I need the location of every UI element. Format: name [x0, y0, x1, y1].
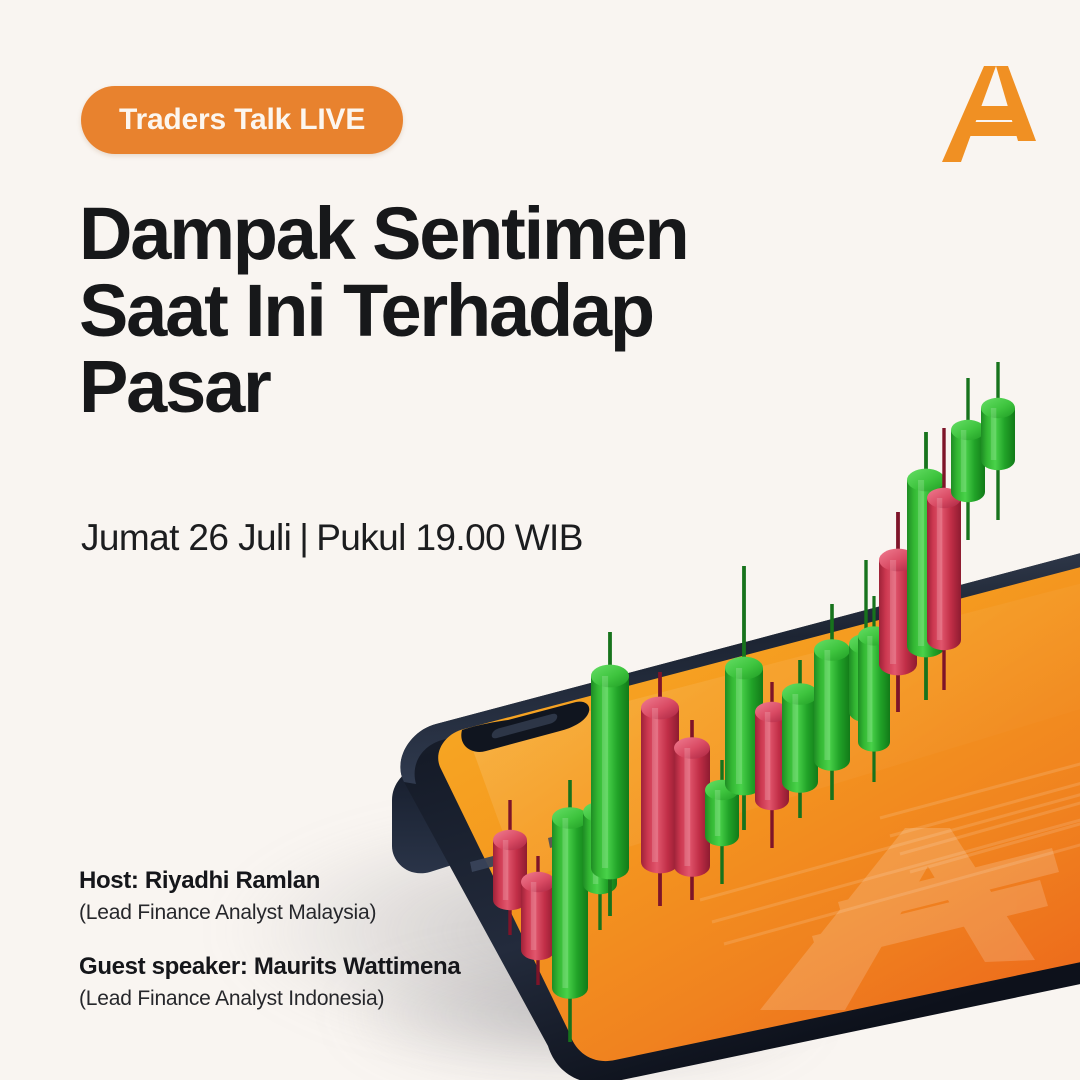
schedule-line: Jumat 26 Juli|Pukul 19.00 WIB	[81, 516, 583, 560]
candle-body	[591, 676, 629, 868]
candle-highlight	[824, 650, 830, 760]
phone-notch-icon	[461, 702, 589, 752]
candle-base	[705, 826, 739, 846]
candle-body	[849, 644, 883, 712]
candlestick-8	[705, 760, 739, 884]
brand-logo[interactable]	[936, 62, 1042, 166]
phone-side-button-icon	[470, 824, 602, 872]
schedule-date: Jumat 26 Juli	[81, 517, 291, 558]
candle-highlight	[991, 408, 996, 460]
candlestick-7	[674, 720, 710, 900]
candle-cap	[782, 683, 818, 705]
candlestick-16	[907, 432, 945, 700]
candle-highlight	[736, 668, 742, 784]
candle-cap	[755, 702, 789, 722]
candle-highlight	[867, 636, 872, 742]
candle-cap	[907, 469, 945, 492]
schedule-time: Pukul 19.00 WIB	[316, 517, 583, 558]
candlestick-19	[981, 362, 1015, 520]
headline-line-2: Saat Ini Terhadap	[79, 273, 839, 350]
candlestick-12	[814, 604, 850, 800]
candle-highlight	[937, 498, 942, 640]
candle-highlight	[602, 676, 608, 868]
screen-sheen	[470, 576, 1080, 880]
candle-highlight	[859, 644, 864, 712]
letter-a-monogram-icon	[936, 62, 1042, 166]
candle-body	[879, 560, 917, 664]
candle-base	[674, 855, 710, 877]
candle-cap	[705, 780, 739, 800]
candlestick-18	[951, 378, 985, 540]
page-title: Dampak Sentimen Saat Ini Terhadap Pasar	[79, 196, 839, 426]
live-badge[interactable]: Traders Talk LIVE	[81, 86, 403, 154]
candle-body	[927, 498, 961, 640]
candle-highlight	[890, 560, 896, 664]
candle-base	[814, 749, 850, 771]
screen-stripe-texture	[700, 760, 1080, 944]
host-name: Host: Riyadhi Ramlan	[79, 866, 599, 896]
poster-canvas: Traders Talk LIVE Dampak Sentimen Saat I…	[0, 0, 1080, 1080]
live-badge-label: Traders Talk LIVE	[119, 105, 365, 135]
candle-body	[705, 790, 739, 836]
candle-body	[782, 694, 818, 782]
candle-body	[674, 748, 710, 866]
candle-body	[907, 480, 945, 646]
candle-highlight	[792, 694, 798, 782]
headline-line-1: Dampak Sentimen	[79, 196, 839, 273]
candle-base	[951, 482, 985, 502]
candlestick-6	[641, 672, 679, 906]
candle-cap	[981, 398, 1015, 418]
letter-a-watermark-icon	[760, 828, 1059, 1010]
candle-base	[641, 851, 679, 874]
phone-rim-highlight	[400, 548, 1080, 784]
candle-highlight	[715, 790, 720, 836]
candle-cap	[814, 639, 850, 661]
candle-base	[725, 773, 763, 796]
candle-base	[849, 702, 883, 722]
candle-cap	[493, 830, 527, 850]
candlestick-14	[858, 596, 890, 782]
candle-highlight	[961, 430, 966, 492]
candlestick-15	[879, 512, 917, 712]
candle-body	[814, 650, 850, 760]
candle-cap	[927, 488, 961, 508]
credit-guest: Guest speaker: Maurits Wattimena (Lead F…	[79, 952, 599, 1012]
candle-body	[981, 408, 1015, 460]
candle-highlight	[765, 712, 770, 800]
candle-base	[782, 771, 818, 793]
candle-base	[907, 635, 945, 658]
schedule-separator: |	[291, 516, 316, 560]
candlestick-13	[849, 560, 883, 746]
candlestick-10	[755, 682, 789, 848]
candle-cap	[951, 420, 985, 440]
credit-host: Host: Riyadhi Ramlan (Lead Finance Analy…	[79, 866, 599, 926]
candle-base	[858, 732, 890, 751]
candle-body	[641, 708, 679, 862]
headline-line-3: Pasar	[79, 349, 839, 426]
guest-name: Guest speaker: Maurits Wattimena	[79, 952, 599, 982]
guest-role: (Lead Finance Analyst Indonesia)	[79, 985, 599, 1012]
candle-highlight	[918, 480, 924, 646]
candlestick-11	[782, 660, 818, 818]
candle-cap	[725, 657, 763, 680]
candle-cap	[583, 802, 617, 822]
candle-base	[927, 630, 961, 650]
candle-cap	[552, 807, 588, 829]
candle-highlight	[652, 708, 658, 862]
candle-cap	[674, 737, 710, 759]
candle-cap	[591, 665, 629, 688]
candlestick-17	[927, 428, 961, 690]
candle-base	[755, 790, 789, 810]
candle-body	[858, 636, 890, 742]
speaker-credits: Host: Riyadhi Ramlan (Lead Finance Analy…	[79, 866, 599, 1039]
candle-base	[879, 653, 917, 676]
candle-highlight	[684, 748, 690, 866]
candle-body	[951, 430, 985, 492]
candle-base	[981, 450, 1015, 470]
candle-cap	[849, 634, 883, 654]
candlestick-9	[725, 566, 763, 830]
candle-cap	[858, 626, 890, 645]
phone-side-edge	[392, 598, 1080, 873]
host-role: (Lead Finance Analyst Malaysia)	[79, 899, 599, 926]
candle-body	[725, 668, 763, 784]
candle-body	[755, 712, 789, 800]
candle-cap	[879, 549, 917, 572]
candle-cap	[641, 697, 679, 720]
